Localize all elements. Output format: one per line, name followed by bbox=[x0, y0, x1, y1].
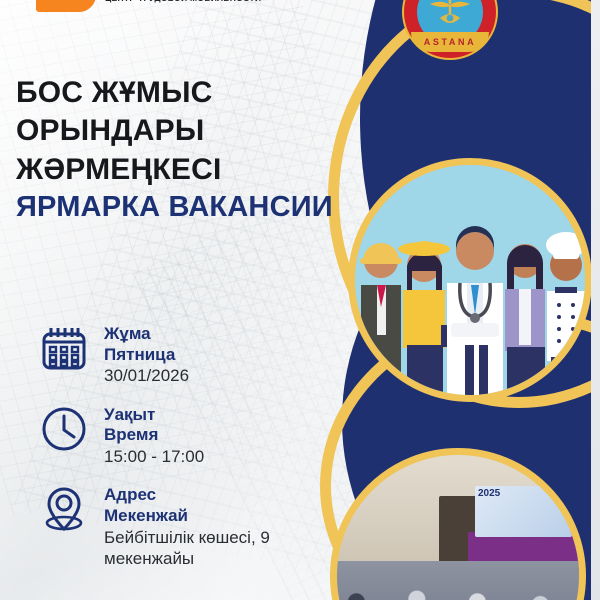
date-value: 30/01/2026 bbox=[104, 365, 189, 386]
detail-text-date: Жұма Пятница 30/01/2026 bbox=[104, 322, 189, 387]
location-pin-icon bbox=[38, 483, 90, 535]
emblem-label: ASTANA bbox=[411, 32, 489, 52]
clock-icon bbox=[38, 403, 90, 455]
photo-banner-year: 2025 bbox=[478, 488, 500, 499]
organization-logo: ЦЕНТР ТРУДОВОЙ МОБИЛЬНОСТИ bbox=[36, 0, 261, 12]
address-label-kk: Адрес bbox=[104, 485, 338, 506]
photo-banner-screen: 2025 bbox=[475, 486, 572, 537]
detail-row-date: Жұма Пятница 30/01/2026 bbox=[38, 322, 338, 387]
address-label-ru: Мекенжай bbox=[104, 506, 338, 527]
workers-group-illustration bbox=[348, 158, 592, 402]
detail-row-address: Адрес Мекенжай Бейбітшілік көшесі, 9 мек… bbox=[38, 483, 338, 569]
time-label-kk: Уақыт bbox=[104, 405, 204, 426]
organization-name: ЦЕНТР ТРУДОВОЙ МОБИЛЬНОСТИ bbox=[105, 0, 261, 12]
time-value: 15:00 - 17:00 bbox=[104, 446, 204, 467]
photo-crowd bbox=[337, 561, 579, 600]
calendar-icon bbox=[38, 322, 90, 374]
shanyrak-icon bbox=[426, 0, 474, 34]
figure-doctor bbox=[447, 226, 503, 395]
figure-businesswoman bbox=[505, 244, 545, 395]
event-details: Жұма Пятница 30/01/2026 Уақыт Время 15:0… bbox=[38, 322, 338, 585]
detail-text-time: Уақыт Время 15:00 - 17:00 bbox=[104, 403, 204, 468]
job-fair-poster: ЦЕНТР ТРУДОВОЙ МОБИЛЬНОСТИ ASTANA БОС ЖҰ… bbox=[0, 0, 600, 600]
date-label-kk: Жұма bbox=[104, 324, 189, 345]
date-label-ru: Пятница bbox=[104, 345, 189, 366]
page-title-kk: БОС ЖҰМЫС ОРЫНДАРЫ ЖӘРМЕҢКЕСІ bbox=[16, 74, 406, 189]
right-edge-strip bbox=[591, 0, 600, 600]
time-label-ru: Время bbox=[104, 425, 204, 446]
detail-row-time: Уақыт Время 15:00 - 17:00 bbox=[38, 403, 338, 468]
job-fair-crowd-photo: 2025 bbox=[330, 448, 586, 600]
address-value: Бейбітшілік көшесі, 9 мекенжайы bbox=[104, 527, 338, 570]
figure-construction-worker bbox=[360, 243, 402, 395]
detail-text-address: Адрес Мекенжай Бейбітшілік көшесі, 9 мек… bbox=[104, 483, 338, 569]
figure-chef bbox=[546, 232, 585, 395]
page-title-ru: ЯРМАРКА ВАКАНСИИ bbox=[16, 192, 406, 224]
orange-logo-mark bbox=[36, 0, 96, 12]
